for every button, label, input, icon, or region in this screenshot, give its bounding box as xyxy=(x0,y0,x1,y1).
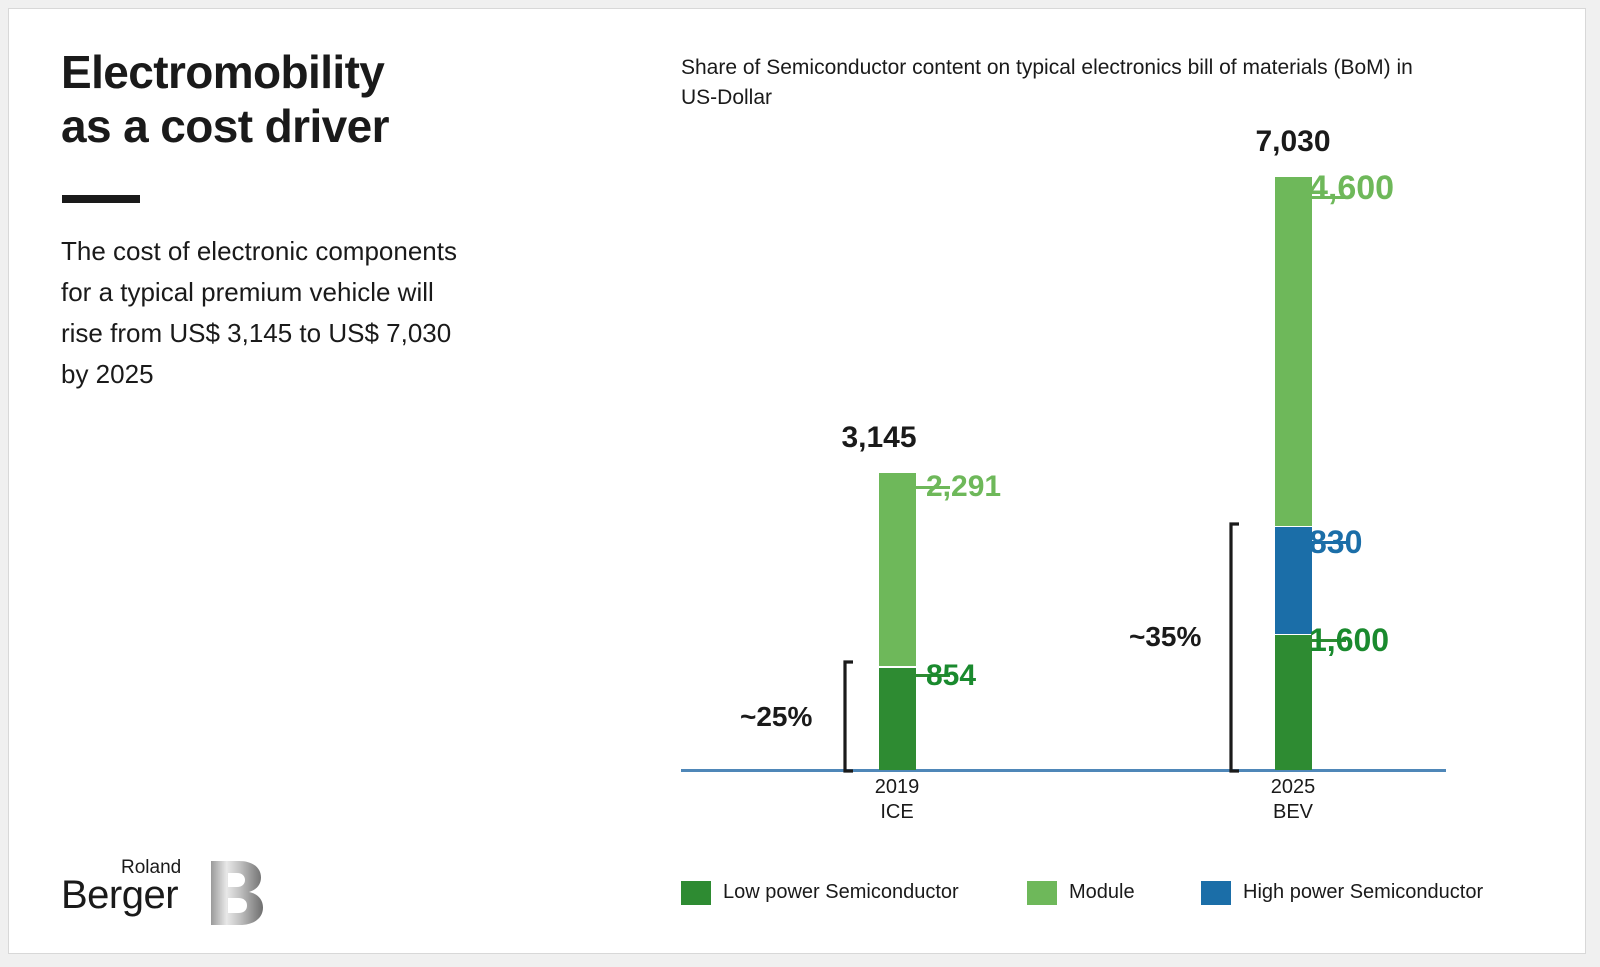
bar-total-2025: 7,030 xyxy=(1203,125,1383,159)
bar-value-2019-low-power: 854 xyxy=(926,659,976,693)
chart-subtitle: Share of Semiconductor content on typica… xyxy=(681,53,1441,114)
legend-label-high-power: High power Semiconductor xyxy=(1243,881,1483,904)
legend-swatch-module-icon xyxy=(1027,881,1057,905)
legend-label-module: Module xyxy=(1069,881,1135,904)
axis-label-2019: 2019 ICE xyxy=(807,775,987,825)
annotation-2019-percent: ~25% xyxy=(740,701,812,733)
axis-label-2025: 2025 BEV xyxy=(1203,775,1383,825)
legend-swatch-low-power-icon xyxy=(681,881,711,905)
bar-value-2019-module: 2,291 xyxy=(926,470,1001,504)
bracket-2025 xyxy=(1225,521,1243,774)
bar-segment-2025-module[interactable] xyxy=(1275,177,1312,526)
chart-baseline-axis xyxy=(681,769,1446,772)
slide-canvas: Electromobility as a cost driver The cos… xyxy=(8,8,1586,954)
bar-value-2025-high-power: 830 xyxy=(1309,524,1362,561)
bar-segment-2025-low-power[interactable] xyxy=(1275,635,1312,770)
chart-area: Share of Semiconductor content on typica… xyxy=(9,9,1585,953)
bar-total-2019: 3,145 xyxy=(789,421,969,455)
bar-segment-2019-low-power[interactable] xyxy=(879,668,916,770)
bar-segment-2025-high-power[interactable] xyxy=(1275,527,1312,634)
legend-swatch-high-power-icon xyxy=(1201,881,1231,905)
bar-segment-2019-module[interactable] xyxy=(879,473,916,666)
bar-value-2025-low-power: 1,600 xyxy=(1309,622,1389,659)
legend-label-low-power: Low power Semiconductor xyxy=(723,881,959,904)
axis-label-2019-type: ICE xyxy=(807,800,987,825)
bar-value-2025-module: 4,600 xyxy=(1309,169,1394,208)
axis-label-2025-type: BEV xyxy=(1203,800,1383,825)
axis-label-2025-year: 2025 xyxy=(1203,775,1383,800)
annotation-2025-percent: ~35% xyxy=(1129,621,1201,653)
bracket-2019 xyxy=(839,659,857,774)
axis-label-2019-year: 2019 xyxy=(807,775,987,800)
